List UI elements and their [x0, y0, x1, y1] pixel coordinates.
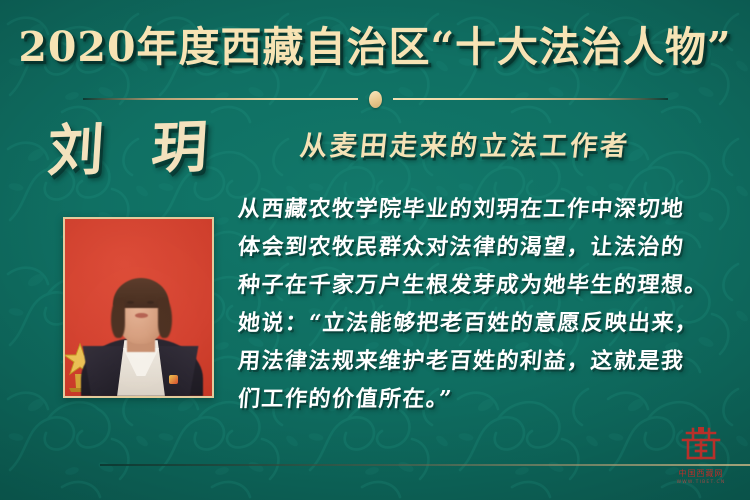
description-line: 从西藏农牧学院毕业的刘玥在工作中深切地	[236, 190, 733, 228]
watermark-cn-text: 中国西藏网	[664, 469, 738, 479]
poster-title-block: 2020年度西藏自治区“十大法治人物”	[0, 22, 750, 72]
award-poster: 2020年度西藏自治区“十大法治人物” 刘 玥 从麦田走来的立法工作者	[0, 0, 750, 500]
portrait-soft-overlay	[65, 219, 212, 396]
watermark-logo: 中国西藏网 WWW.TIBET.CN	[664, 427, 738, 486]
honoree-description: 从西藏农牧学院毕业的刘玥在工作中深切地 体会到农牧民群众对法律的渴望，让法治的 …	[238, 190, 732, 418]
honoree-portrait-photo	[63, 217, 214, 398]
title-divider	[0, 90, 750, 108]
bottom-rule	[100, 464, 750, 466]
china-tibet-net-logo-icon	[679, 427, 723, 461]
honoree-subtitle: 从麦田走来的立法工作者	[298, 130, 632, 164]
description-line: 用法律法规来维护老百姓的利益，这就是我	[236, 342, 733, 380]
divider-line-right	[393, 98, 668, 100]
divider-line-left	[83, 98, 358, 100]
page-title: 2020年度西藏自治区“十大法治人物”	[18, 22, 731, 72]
watermark-en-text: WWW.TIBET.CN	[664, 479, 738, 486]
divider-diamond-icon	[369, 91, 382, 108]
honoree-name: 刘 玥	[46, 116, 224, 183]
description-line: 她说：“立法能够把老百姓的意愿反映出来，	[236, 304, 733, 342]
description-line: 们工作的价值所在。”	[236, 380, 733, 418]
description-line: 种子在千家万户生根发芽成为她毕生的理想。	[236, 266, 733, 304]
description-line: 体会到农牧民群众对法律的渴望，让法治的	[236, 228, 733, 266]
